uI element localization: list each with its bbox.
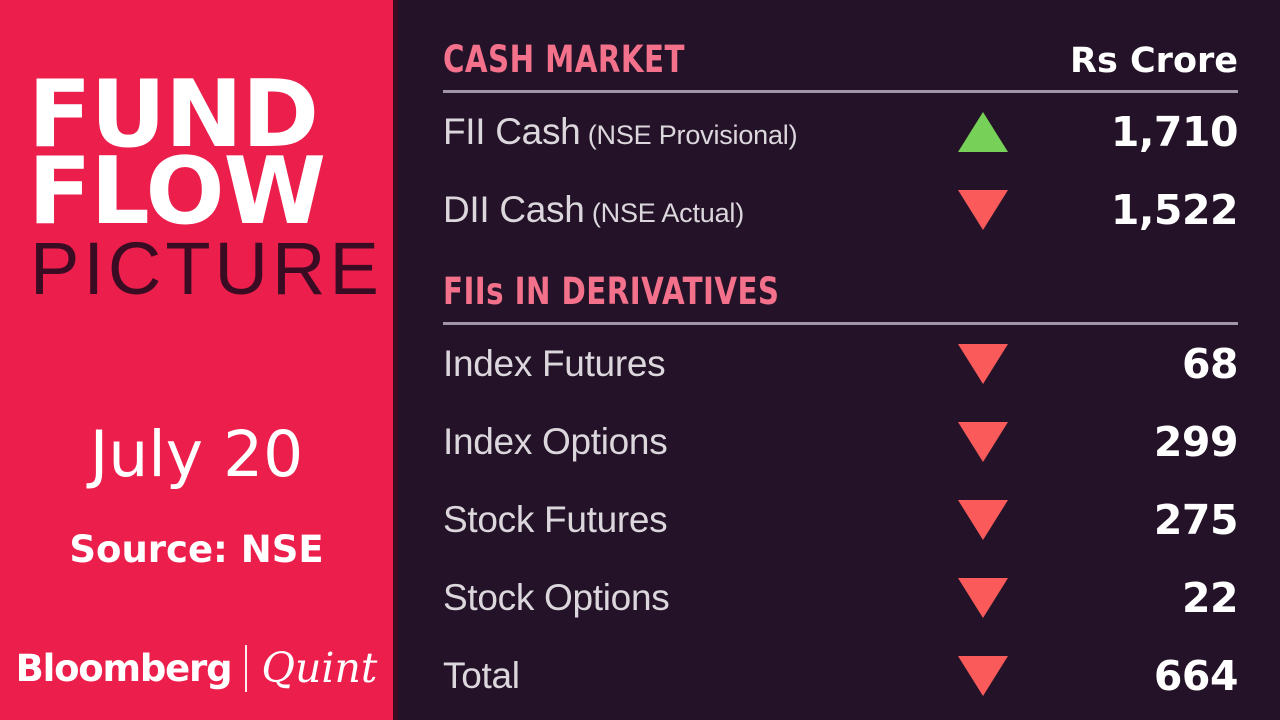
section-header: FIIs IN DERIVATIVES: [443, 270, 1238, 318]
row-value: 68: [988, 340, 1238, 388]
row-label: Stock Futures: [443, 499, 667, 541]
row-value: 664: [988, 652, 1238, 700]
publisher-logo: Bloomberg Quint: [0, 644, 393, 692]
row-label: DII Cash (NSE Actual): [443, 189, 744, 231]
row-label: FII Cash (NSE Provisional): [443, 111, 797, 153]
row-label-main: FII Cash: [443, 111, 580, 152]
row-label: Index Options: [443, 421, 667, 463]
date-label: July 20: [0, 418, 393, 491]
logo-bloomberg-wordmark: Bloomberg: [16, 647, 232, 690]
row-label: Index Futures: [443, 343, 665, 385]
row-label-main: DII Cash: [443, 189, 585, 230]
source-label: Source: NSE: [0, 528, 393, 571]
table-row: Index Futures 68: [443, 325, 1238, 403]
section-header: CASH MARKET Rs Crore: [443, 38, 1238, 86]
infographic-canvas: FUND FLOW PICTURE July 20 Source: NSE Bl…: [0, 0, 1280, 720]
row-label: Total: [443, 655, 520, 697]
brand-panel: FUND FLOW PICTURE July 20 Source: NSE Bl…: [0, 0, 393, 720]
section-cash-market: CASH MARKET Rs Crore FII Cash (NSE Provi…: [443, 38, 1238, 249]
table-row: Index Options 299: [443, 403, 1238, 481]
logo-quint-wordmark: Quint: [261, 644, 377, 692]
row-value: 22: [988, 574, 1238, 622]
row-label-sub: (NSE Actual): [585, 198, 744, 228]
row-value: 1,522: [988, 186, 1238, 234]
row-value: 275: [988, 496, 1238, 544]
brand-title-line3: PICTURE: [30, 232, 383, 306]
row-value: 1,710: [988, 108, 1238, 156]
row-label: Stock Options: [443, 577, 669, 619]
section-fiis-in-derivatives: FIIs IN DERIVATIVES Index Futures 68 Ind…: [443, 270, 1238, 715]
section-title: CASH MARKET: [443, 38, 685, 81]
unit-label: Rs Crore: [1070, 41, 1238, 81]
data-panel: CASH MARKET Rs Crore FII Cash (NSE Provi…: [398, 0, 1280, 720]
table-row: FII Cash (NSE Provisional) 1,710: [443, 93, 1238, 171]
row-label-sub: (NSE Provisional): [580, 120, 797, 150]
table-row: Stock Options 22: [443, 559, 1238, 637]
row-value: 299: [988, 418, 1238, 466]
section-title: FIIs IN DERIVATIVES: [443, 270, 779, 313]
logo-divider: [245, 645, 247, 692]
table-row: Stock Futures 275: [443, 481, 1238, 559]
table-row: Total 664: [443, 637, 1238, 715]
table-row: DII Cash (NSE Actual) 1,522: [443, 171, 1238, 249]
brand-title-line2: FLOW: [28, 152, 325, 230]
